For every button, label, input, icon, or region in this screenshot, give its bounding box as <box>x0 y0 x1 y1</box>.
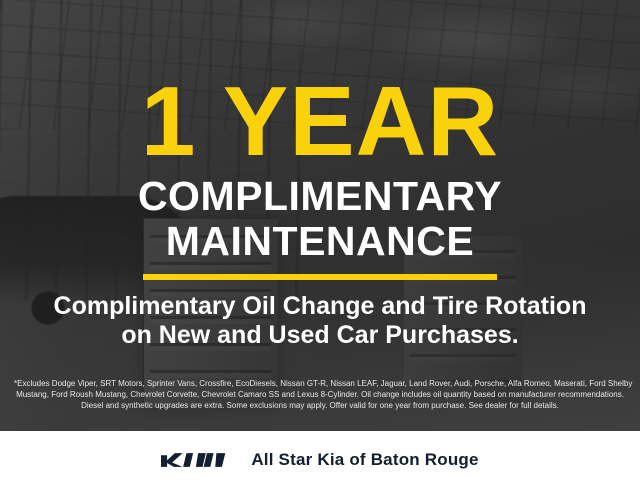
dealer-name: All Star Kia of Baton Rouge <box>251 450 478 470</box>
kia-wordmark-logo <box>161 450 233 470</box>
hero-section: 1 YEAR COMPLIMENTARY MAINTENANCE Complim… <box>0 0 640 431</box>
footer-bar: All Star Kia of Baton Rouge <box>0 431 640 488</box>
promotional-banner: 1 YEAR COMPLIMENTARY MAINTENANCE Complim… <box>0 0 640 488</box>
headline-maintenance: MAINTENANCE <box>0 221 640 262</box>
hero-content: 1 YEAR COMPLIMENTARY MAINTENANCE Complim… <box>0 0 640 431</box>
disclaimer-line-2: Mustang, Ford Roush Mustang, Chevrolet C… <box>14 389 626 400</box>
disclaimer-text: *Excludes Dodge Viper, SRT Motors, Sprin… <box>14 378 626 411</box>
yellow-divider-rule <box>143 274 497 280</box>
disclaimer-line-3: Diesel and synthetic upgrades are extra.… <box>14 400 626 411</box>
headline-complimentary: COMPLIMENTARY <box>0 176 640 217</box>
offer-description-line-1: Complimentary Oil Change and Tire Rotati… <box>0 291 640 321</box>
disclaimer-line-1: *Excludes Dodge Viper, SRT Motors, Sprin… <box>14 378 626 389</box>
offer-description-line-2: on New and Used Car Purchases. <box>0 320 640 350</box>
headline-year: 1 YEAR <box>0 72 640 170</box>
